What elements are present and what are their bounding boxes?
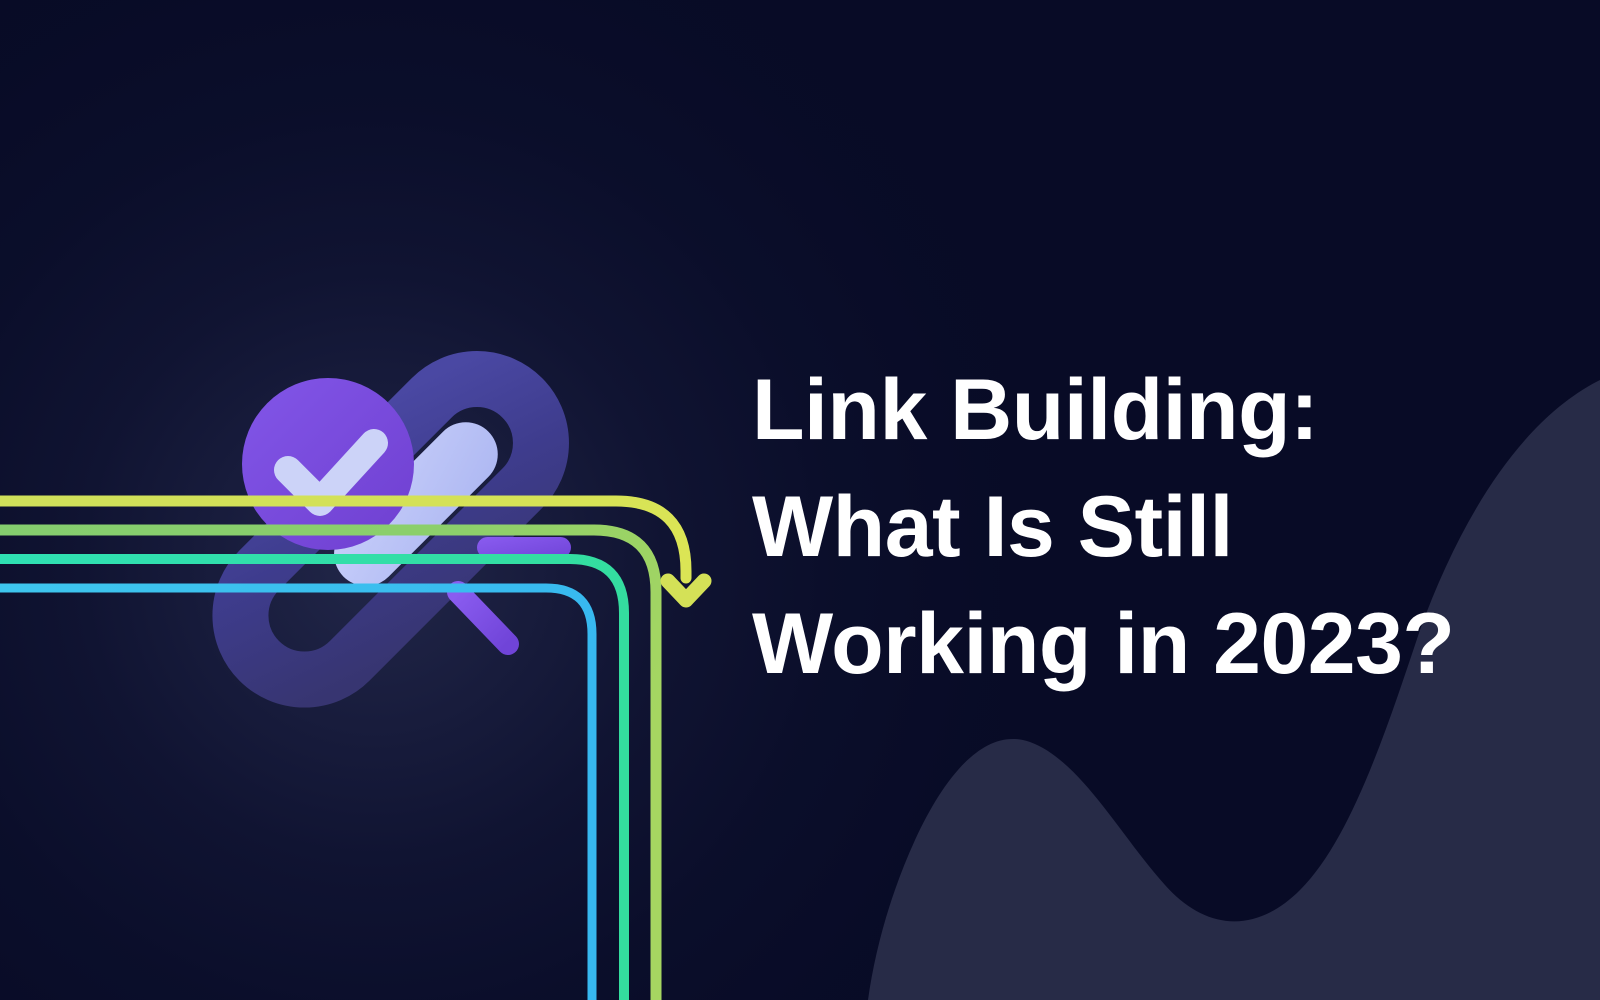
hero-banner: Link Building: What Is Still Working in … — [0, 0, 1600, 1000]
page-title-line-1: Link Building: — [752, 352, 1512, 469]
page-title-line-3: Working in 2023? — [752, 586, 1512, 703]
page-title-line-2: What Is Still — [752, 469, 1512, 586]
page-title: Link Building: What Is Still Working in … — [752, 352, 1512, 703]
